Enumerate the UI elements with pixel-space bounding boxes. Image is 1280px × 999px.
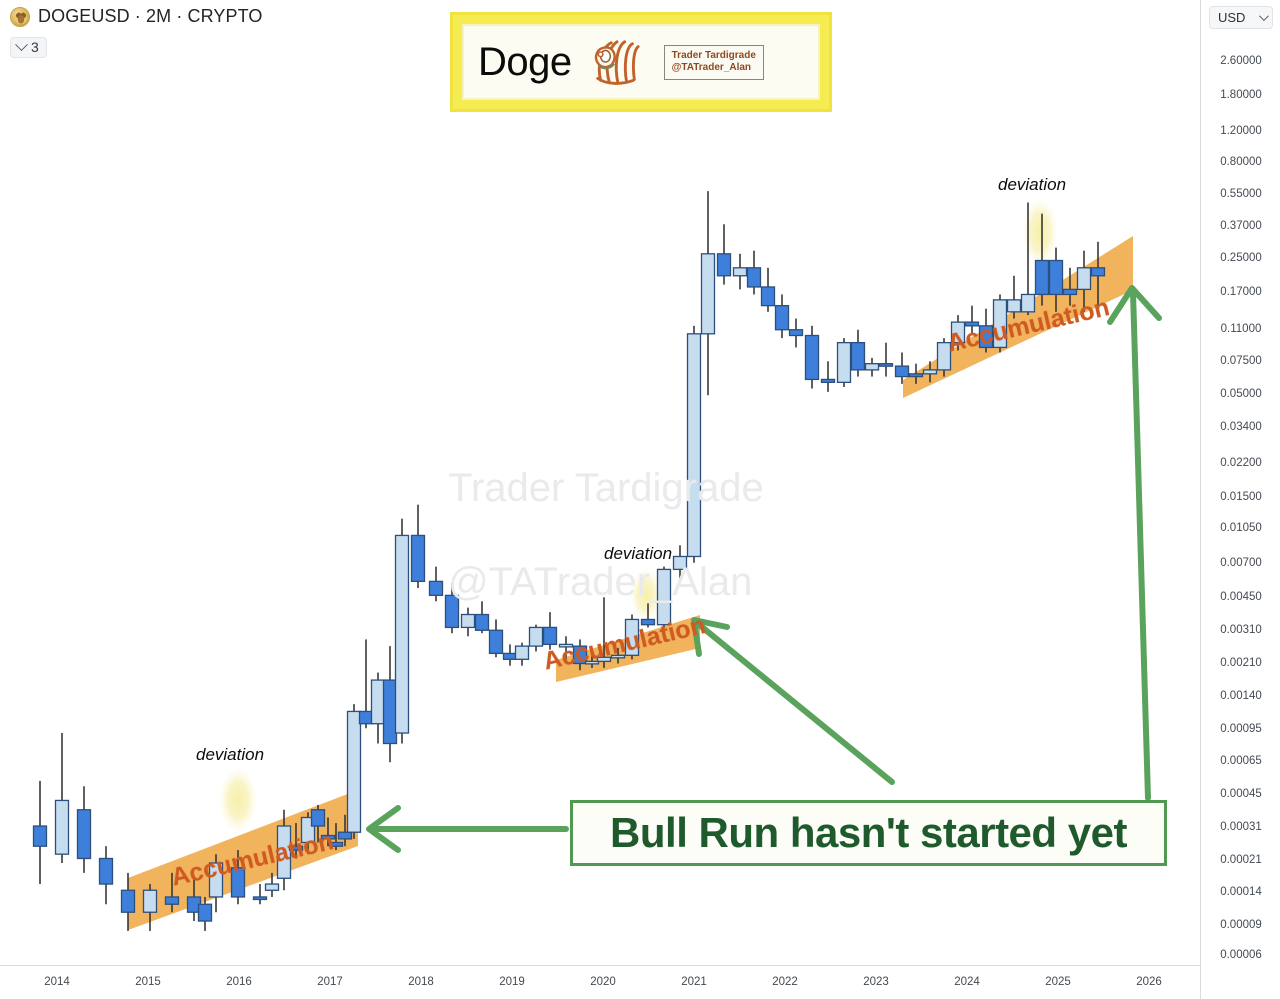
candle-body [166, 897, 179, 904]
candle-body [718, 254, 731, 276]
deviation-label-1: deviation [196, 745, 264, 765]
candle-body [312, 810, 325, 826]
candle-body [372, 680, 385, 724]
banner-handle-box: Trader Tardigrade @TATrader_Alan [664, 45, 764, 80]
interval-chip[interactable]: 3 [10, 37, 47, 58]
candle-body [790, 330, 803, 336]
price-tick: 0.55000 [1201, 188, 1280, 200]
candle-body [852, 343, 865, 370]
candle-body [339, 832, 352, 839]
candle-body [504, 653, 517, 659]
price-tick: 0.80000 [1201, 156, 1280, 168]
price-tick: 0.00450 [1201, 591, 1280, 603]
candle-body [910, 374, 923, 377]
chart-screenshot: Trader Tardigrade @TATrader_Alan deviati… [0, 0, 1280, 999]
candle-body [776, 306, 789, 330]
price-tick: 1.80000 [1201, 89, 1280, 101]
price-tick: 1.20000 [1201, 125, 1280, 137]
price-tick: 0.25000 [1201, 252, 1280, 264]
price-tick: 0.00310 [1201, 624, 1280, 636]
candle-body [34, 826, 47, 846]
candle-body [396, 535, 409, 733]
candle-body [544, 627, 557, 644]
time-tick: 2025 [1045, 976, 1071, 988]
chevron-down-icon [1259, 11, 1269, 21]
chevron-down-icon [15, 38, 28, 51]
candle-body [762, 287, 775, 306]
price-tick: 0.00045 [1201, 788, 1280, 800]
candle-body [430, 581, 443, 595]
time-tick: 2020 [590, 976, 616, 988]
time-tick: 2019 [499, 976, 525, 988]
price-tick: 0.00021 [1201, 854, 1280, 866]
doge-banner: Doge Trader Tardigrade @TATrader_Alan [450, 12, 832, 112]
bull-run-callout-text: Bull Run hasn't started yet [610, 809, 1127, 857]
symbol-bar[interactable]: DOGEUSD · 2M · CRYPTO [10, 6, 262, 27]
candle-body [734, 268, 747, 276]
candle-body [360, 711, 373, 723]
price-tick: 0.00031 [1201, 821, 1280, 833]
candle-body [348, 711, 361, 832]
time-tick: 2018 [408, 976, 434, 988]
candle-body [1064, 289, 1077, 294]
candle-body [1078, 268, 1091, 290]
candle-body [412, 535, 425, 581]
candle-body [56, 800, 69, 854]
arrow-to-accumulation-2 [694, 620, 892, 782]
candle-body [838, 343, 851, 383]
candle-body [1008, 300, 1021, 312]
price-tick: 0.00014 [1201, 886, 1280, 898]
time-tick: 2022 [772, 976, 798, 988]
bull-run-callout: Bull Run hasn't started yet [570, 800, 1167, 866]
price-tick: 0.00065 [1201, 755, 1280, 767]
price-tick: 2.60000 [1201, 55, 1280, 67]
candle-body [266, 884, 279, 890]
interval-chip-label: 3 [31, 40, 39, 54]
price-tick: 0.01050 [1201, 522, 1280, 534]
price-tick: 0.00006 [1201, 949, 1280, 961]
time-tick: 2016 [226, 976, 252, 988]
candle-body [78, 810, 91, 859]
doge-banner-title: Doge [478, 42, 572, 82]
price-tick: 0.37000 [1201, 220, 1280, 232]
time-axis[interactable]: 2014201520162017201820192020202120222023… [0, 965, 1200, 999]
banner-handle-name: Trader Tardigrade [672, 50, 756, 63]
candle-body [490, 630, 503, 653]
candle-body [1092, 268, 1105, 276]
candle-body [530, 627, 543, 646]
currency-select[interactable]: USD [1209, 6, 1273, 29]
price-tick: 0.00009 [1201, 919, 1280, 931]
time-tick: 2017 [317, 976, 343, 988]
candle-body [924, 370, 937, 374]
doge-banner-inner: Doge Trader Tardigrade @TATrader_Alan [462, 24, 820, 100]
candle-body [1036, 261, 1049, 295]
price-axis[interactable]: USD 2.600001.800001.200000.800000.550000… [1200, 0, 1280, 999]
currency-select-label: USD [1218, 10, 1245, 25]
candle-body [822, 379, 835, 382]
time-tick: 2021 [681, 976, 707, 988]
candle-body [476, 615, 489, 631]
candle-body [254, 897, 267, 900]
doge-coin-icon [10, 7, 30, 27]
price-tick: 0.00095 [1201, 723, 1280, 735]
time-tick: 2023 [863, 976, 889, 988]
price-tick: 0.17000 [1201, 286, 1280, 298]
candle-body [144, 890, 157, 912]
tardigrade-logo-icon [588, 36, 646, 88]
candle-body [748, 268, 761, 287]
price-tick: 0.00700 [1201, 557, 1280, 569]
candle-body [1050, 261, 1063, 295]
watermark-line-2: @TATrader_Alan [448, 560, 752, 605]
watermark-line-1: Trader Tardigrade [448, 466, 764, 511]
banner-handle-id: @TATrader_Alan [672, 62, 756, 75]
candle-body [896, 366, 909, 376]
deviation-label-3: deviation [998, 175, 1066, 195]
price-tick: 0.07500 [1201, 355, 1280, 367]
price-tick: 0.00210 [1201, 657, 1280, 669]
price-tick: 0.11000 [1201, 323, 1280, 335]
symbol-title[interactable]: DOGEUSD · 2M · CRYPTO [38, 6, 262, 27]
candle-body [100, 858, 113, 884]
arrow-to-accumulation-1 [369, 808, 566, 850]
candle-body [688, 334, 701, 557]
candle-body [806, 336, 819, 380]
price-tick: 0.02200 [1201, 457, 1280, 469]
candle-body [462, 615, 475, 628]
time-tick: 2015 [135, 976, 161, 988]
arrow-to-accumulation-3 [1110, 288, 1159, 798]
deviation-label-2: deviation [604, 544, 672, 564]
price-tick: 0.00140 [1201, 690, 1280, 702]
price-tick: 0.01500 [1201, 491, 1280, 503]
time-tick: 2024 [954, 976, 980, 988]
price-tick: 0.05000 [1201, 388, 1280, 400]
candle-body [384, 680, 397, 743]
candle-body [122, 890, 135, 912]
time-tick: 2014 [44, 976, 70, 988]
candle-body [880, 364, 893, 367]
candle-body [702, 254, 715, 334]
candle-body [199, 904, 212, 921]
time-tick: 2026 [1136, 976, 1162, 988]
deviation-glow-1 [219, 767, 257, 833]
candle-body [516, 646, 529, 659]
price-tick: 0.03400 [1201, 421, 1280, 433]
candle-body [866, 364, 879, 370]
